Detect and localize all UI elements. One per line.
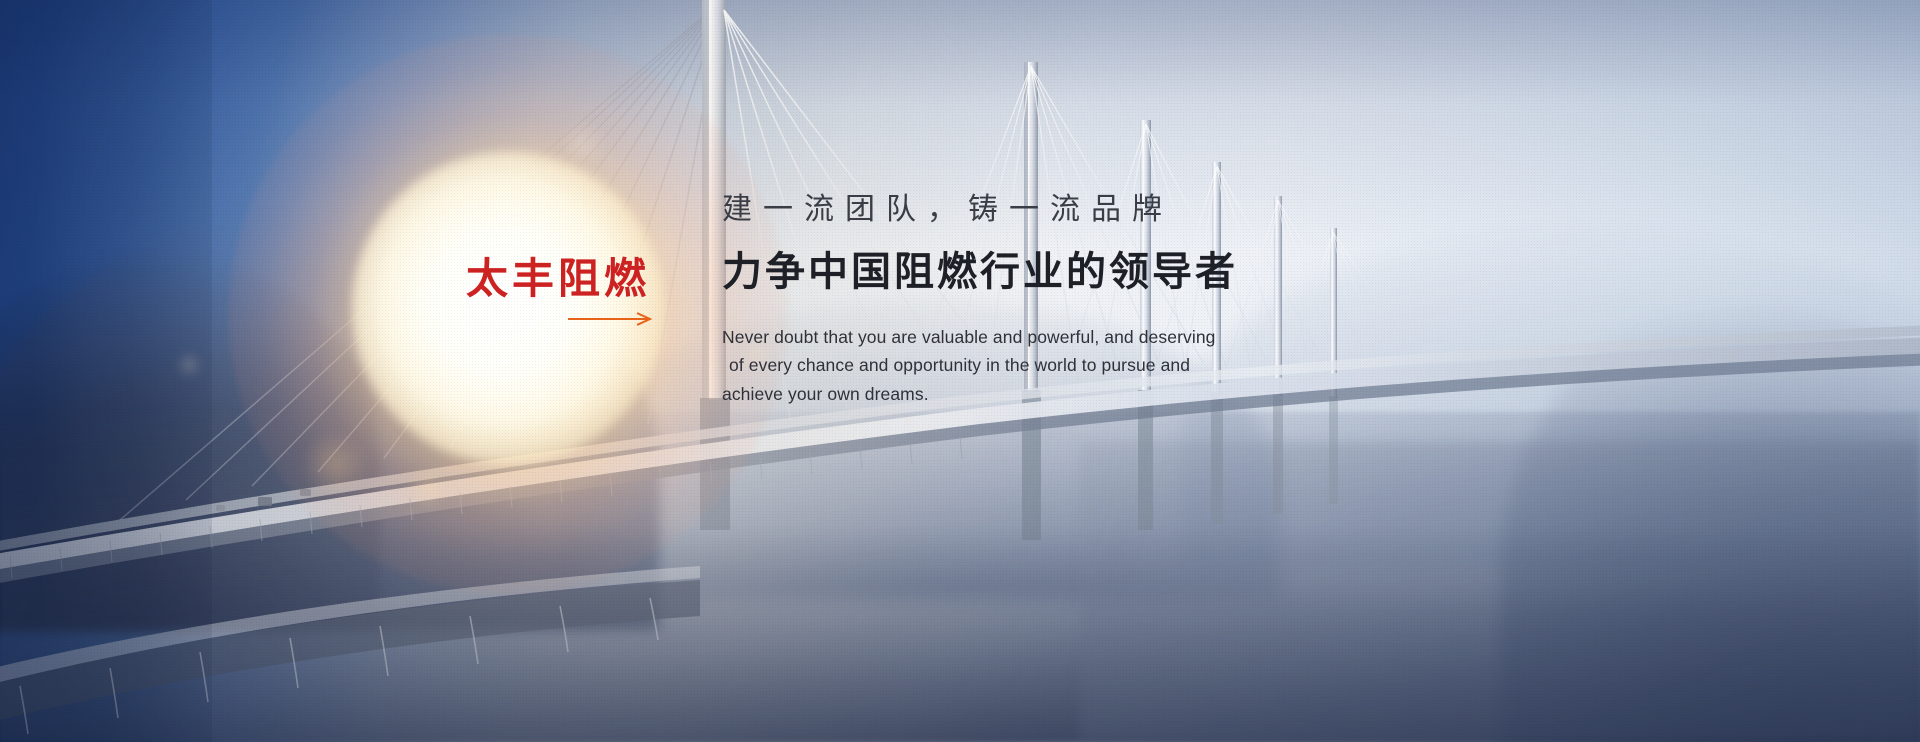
hero-description-line-3: achieve your own dreams. bbox=[722, 380, 1282, 408]
banner-content: 太丰阻燃 建一流团队，铸一流品牌 力争中国阻燃行业的领导者 Never doub… bbox=[0, 0, 1920, 742]
brand-logo-text: 太丰阻燃 bbox=[466, 258, 666, 300]
hero-headline: 力争中国阻燃行业的领导者 bbox=[722, 247, 1462, 297]
hero-description-line-2: of every chance and opportunity in the w… bbox=[722, 351, 1282, 379]
brand-logo[interactable]: 太丰阻燃 bbox=[466, 258, 666, 300]
long-right-arrow-icon bbox=[568, 312, 656, 326]
hero-subheadline: 建一流团队，铸一流品牌 bbox=[722, 190, 1462, 229]
hero-description-line-1: Never doubt that you are valuable and po… bbox=[722, 323, 1282, 351]
hero-text-block: 建一流团队，铸一流品牌 力争中国阻燃行业的领导者 Never doubt tha… bbox=[722, 190, 1462, 408]
hero-description: Never doubt that you are valuable and po… bbox=[722, 323, 1282, 408]
hero-banner: 太丰阻燃 建一流团队，铸一流品牌 力争中国阻燃行业的领导者 Never doub… bbox=[0, 0, 1920, 742]
